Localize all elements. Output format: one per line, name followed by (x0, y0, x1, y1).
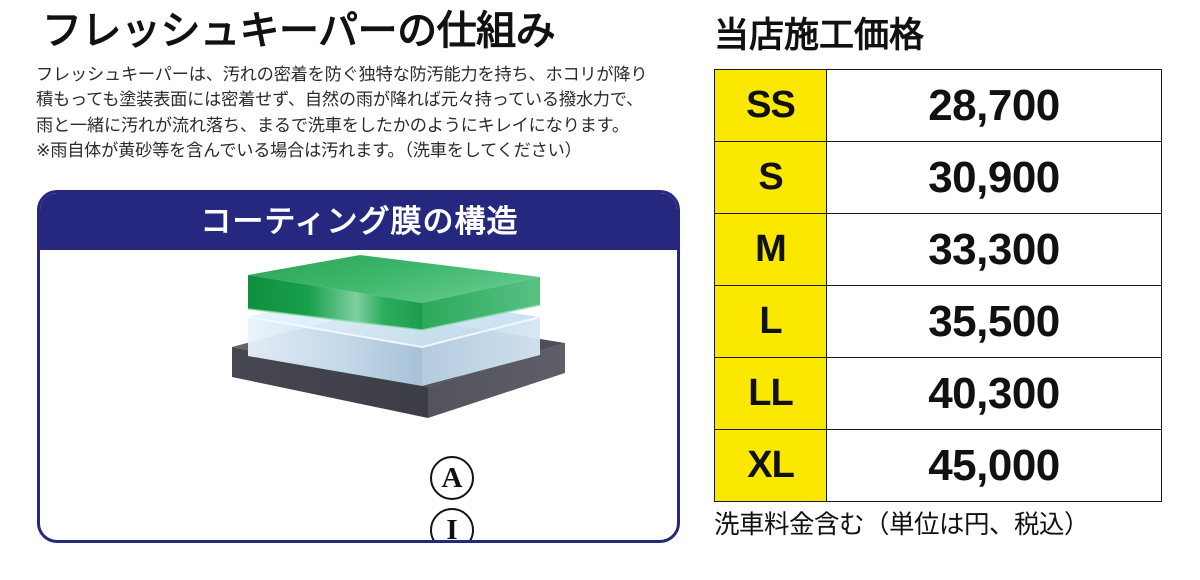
price-and-structure-infographic: フレッシュキーパーの仕組み フレッシュキーパーは、汚れの密着を防ぐ独特な防汚能力… (0, 0, 1200, 580)
intro-line-4: ※雨自体が黄砂等を含んでいる場合は汚れます。（洗車をしてください） (36, 138, 686, 163)
right-panel: 当店施工価格 SS 28,700 S 30,900 M 33,300 L 35,… (700, 0, 1200, 580)
table-row: S 30,900 (715, 142, 1162, 214)
price-cell: 40,300 (827, 358, 1162, 430)
left-panel: フレッシュキーパーの仕組み フレッシュキーパーは、汚れの密着を防ぐ独特な防汚能力… (0, 0, 700, 580)
price-cell: 33,300 (827, 214, 1162, 286)
table-row: SS 28,700 (715, 70, 1162, 142)
coating-layer-diagram-icon (170, 255, 570, 445)
intro-line-3: 雨と一緒に汚れが流れ落ち、まるで洗車をしたかのようにキレイになります。 (36, 113, 686, 138)
intro-line-2: 積もっても塗装表面には密着せず、自然の雨が降れば元々持っている撥水力で、 (36, 87, 686, 112)
structure-card-header: コーティング膜の構造 (39, 192, 680, 250)
intro-paragraph: フレッシュキーパーは、汚れの密着を防ぐ独特な防汚能力を持ち、ホコリが降り 積もっ… (36, 62, 686, 164)
size-cell: M (715, 214, 827, 286)
size-cell: L (715, 286, 827, 358)
price-cell: 45,000 (827, 430, 1162, 502)
layer-badge-i-icon: I (430, 508, 474, 543)
coating-structure-card: コーティング膜の構造 (37, 190, 680, 543)
page-title: フレッシュキーパーの仕組み (42, 6, 555, 56)
price-cell: 28,700 (827, 70, 1162, 142)
price-cell: 30,900 (827, 142, 1162, 214)
table-row: M 33,300 (715, 214, 1162, 286)
size-cell: XL (715, 430, 827, 502)
price-table: SS 28,700 S 30,900 M 33,300 L 35,500 LL (714, 69, 1162, 502)
size-cell: LL (715, 358, 827, 430)
structure-card-title: コーティング膜の構造 (200, 206, 518, 237)
price-cell: 35,500 (827, 286, 1162, 358)
table-row: LL 40,300 (715, 358, 1162, 430)
price-table-title: 当店施工価格 (714, 7, 924, 58)
intro-line-1: フレッシュキーパーは、汚れの密着を防ぐ独特な防汚能力を持ち、ホコリが降り (36, 62, 686, 87)
size-cell: S (715, 142, 827, 214)
layer-badge-a-icon: A (430, 456, 474, 500)
table-row: XL 45,000 (715, 430, 1162, 502)
table-row: L 35,500 (715, 286, 1162, 358)
price-note: 洗車料金含む（単位は円、税込） (714, 504, 1089, 541)
size-cell: SS (715, 70, 827, 142)
